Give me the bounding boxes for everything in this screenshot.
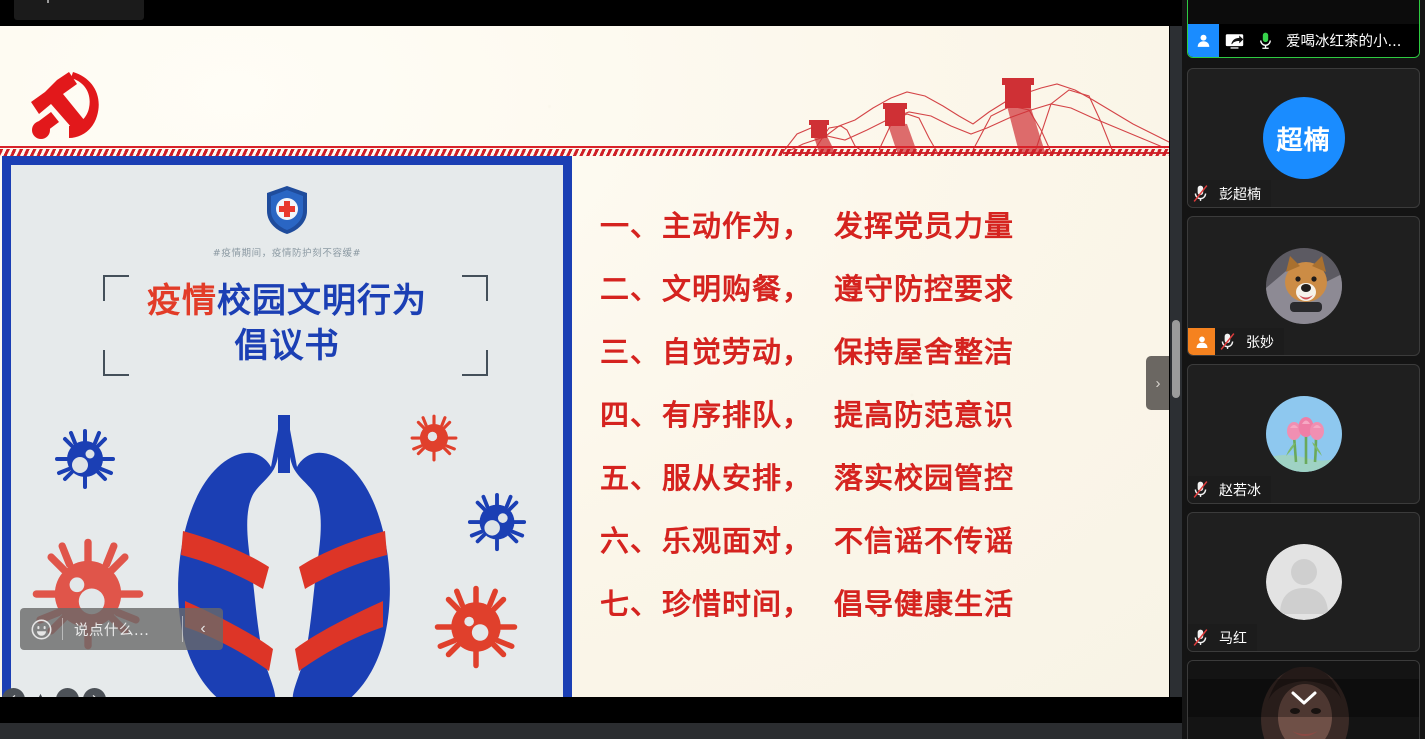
more-options-button[interactable] bbox=[56, 688, 79, 697]
participant-name-row: 马红 bbox=[1188, 624, 1257, 651]
host-badge-icon bbox=[1188, 328, 1215, 355]
ellipsis-icon bbox=[61, 693, 75, 698]
expand-panel-handle[interactable]: › bbox=[1146, 356, 1169, 410]
pledge-item-4-tail: 提高防范意识 bbox=[834, 398, 1014, 432]
pledge-item-1-num: 一、 bbox=[600, 209, 660, 243]
mic-muted-icon bbox=[1188, 628, 1212, 647]
chat-input-bar[interactable]: 说点什么... ‹ bbox=[20, 608, 223, 650]
pen-tool-icon bbox=[33, 692, 48, 697]
participant-name-row: 赵若冰 bbox=[1188, 476, 1271, 503]
pledge-item-3-head: 自觉劳动， bbox=[662, 335, 812, 369]
pledge-item-1: 一、主动作为，发挥党员力量 bbox=[600, 212, 1160, 241]
header-red-rule bbox=[0, 146, 1169, 148]
pledge-item-2-num: 二、 bbox=[600, 272, 660, 306]
participant-tile-3[interactable]: 赵若冰 bbox=[1187, 364, 1420, 504]
pledge-item-4-num: 四、 bbox=[600, 398, 660, 432]
participant-tile-4[interactable]: 马红 bbox=[1187, 512, 1420, 652]
avatar-photo bbox=[1266, 396, 1342, 472]
arrow-left-icon bbox=[7, 693, 20, 697]
pledge-item-6-num: 六、 bbox=[600, 524, 660, 558]
window-titlebar-stub bbox=[14, 0, 144, 20]
shared-screen-stage[interactable]: #疫情期间，疫情防护刻不容缓# 疫情校园文明行为 倡议书 bbox=[0, 26, 1169, 697]
participant-tile-5[interactable] bbox=[1187, 660, 1420, 739]
participant-name-row: 彭超楠 bbox=[1188, 180, 1271, 207]
pledge-item-3: 三、自觉劳动，保持屋舍整洁 bbox=[600, 338, 1160, 367]
pledge-item-6: 六、乐观面对，不信谣不传谣 bbox=[600, 527, 1160, 556]
participant-name-row: 张妙 bbox=[1188, 328, 1284, 355]
participant-name: 爱喝冰红茶的小... bbox=[1281, 30, 1401, 51]
pledge-item-6-head: 乐观面对， bbox=[662, 524, 812, 558]
slide-controls bbox=[2, 688, 106, 697]
avatar-default-silhouette bbox=[1266, 544, 1342, 620]
slide-title-rest: 校园文明行为 bbox=[217, 281, 427, 321]
screen-share-icon bbox=[1219, 24, 1250, 57]
pledge-item-7-num: 七、 bbox=[600, 587, 660, 621]
participant-sidebar[interactable]: 西安加油 bbox=[1182, 0, 1425, 739]
participant-name: 张妙 bbox=[1239, 332, 1274, 352]
header-hatched-rule bbox=[0, 149, 1169, 156]
participant-tile-2[interactable]: 张妙 bbox=[1187, 216, 1420, 356]
pledge-item-2: 二、文明购餐，遵守防控要求 bbox=[600, 275, 1160, 304]
pledge-item-1-head: 主动作为， bbox=[662, 209, 812, 243]
pledge-item-7-tail: 倡导健康生活 bbox=[834, 587, 1014, 621]
participant-name: 马红 bbox=[1212, 628, 1247, 648]
virus-icon-red-1 bbox=[409, 413, 459, 463]
pledge-item-4-head: 有序排队， bbox=[662, 398, 812, 432]
lungs-illustration bbox=[159, 415, 409, 697]
avatar-photo bbox=[1266, 248, 1342, 324]
chat-collapse-chevron-icon[interactable]: ‹ bbox=[183, 620, 223, 638]
virus-icon-red-3 bbox=[432, 583, 520, 671]
participant-tile-active[interactable]: 西安加油 bbox=[1187, 0, 1420, 58]
pledge-item-3-num: 三、 bbox=[600, 335, 660, 369]
slide-hashtag-line: #疫情期间，疫情防护刻不容缓# bbox=[11, 245, 563, 259]
mic-muted-icon bbox=[1215, 332, 1239, 351]
slide-title-highlight: 疫情 bbox=[147, 281, 217, 321]
pledge-item-1-tail: 发挥党员力量 bbox=[834, 209, 1014, 243]
slide-title-line2: 倡议书 bbox=[235, 326, 340, 366]
mic-unmuted-icon bbox=[1250, 24, 1281, 57]
slide-title: 疫情校园文明行为 倡议书 bbox=[11, 279, 563, 369]
virus-icon-blue-1 bbox=[53, 427, 117, 491]
stage-scrollbar-thumb[interactable] bbox=[1172, 320, 1180, 398]
pledge-item-6-tail: 不信谣不传谣 bbox=[834, 524, 1014, 558]
participant-name: 彭超楠 bbox=[1212, 184, 1261, 204]
titlebar-caret bbox=[47, 0, 49, 3]
pledge-list: 一、主动作为，发挥党员力量 二、文明购餐，遵守防控要求 三、自觉劳动，保持屋舍整… bbox=[600, 212, 1160, 653]
prev-slide-button[interactable] bbox=[2, 688, 25, 697]
chevron-down-icon bbox=[1287, 688, 1321, 708]
chat-input-placeholder[interactable]: 说点什么... bbox=[63, 619, 182, 640]
smiley-icon[interactable] bbox=[20, 619, 62, 640]
arrow-right-icon bbox=[88, 693, 101, 697]
scroll-down-indicator[interactable] bbox=[1188, 679, 1419, 717]
mic-muted-icon bbox=[1188, 480, 1212, 499]
great-wall-line-art bbox=[783, 68, 1169, 156]
cpc-hammer-sickle-emblem bbox=[27, 68, 107, 152]
participant-name-row: 爱喝冰红茶的小... bbox=[1188, 24, 1419, 57]
annotate-button[interactable] bbox=[29, 688, 52, 697]
chevron-right-icon: › bbox=[1156, 375, 1161, 392]
pledge-item-2-tail: 遵守防控要求 bbox=[834, 272, 1014, 306]
pledge-item-5-head: 服从安排， bbox=[662, 461, 812, 495]
pledge-item-5-tail: 落实校园管控 bbox=[834, 461, 1014, 495]
mic-muted-icon bbox=[1188, 184, 1212, 203]
virus-icon-blue-2 bbox=[466, 491, 528, 553]
pledge-item-3-tail: 保持屋舍整洁 bbox=[834, 335, 1014, 369]
pledge-item-7-head: 珍惜时间， bbox=[662, 587, 812, 621]
avatar-initials: 超楠 bbox=[1263, 97, 1345, 179]
person-badge-icon bbox=[1188, 24, 1219, 57]
pledge-item-5: 五、服从安排，落实校园管控 bbox=[600, 464, 1160, 493]
next-slide-button[interactable] bbox=[83, 688, 106, 697]
participant-tile-1[interactable]: 超楠 彭超楠 bbox=[1187, 68, 1420, 208]
stage-bottom-band bbox=[0, 697, 1170, 723]
participant-name: 赵若冰 bbox=[1212, 480, 1261, 500]
medical-shield-icon bbox=[265, 185, 309, 235]
pledge-item-2-head: 文明购餐， bbox=[662, 272, 812, 306]
pledge-item-5-num: 五、 bbox=[600, 461, 660, 495]
pledge-item-4: 四、有序排队，提高防范意识 bbox=[600, 401, 1160, 430]
pledge-item-7: 七、珍惜时间，倡导健康生活 bbox=[600, 590, 1160, 619]
screen-root: #疫情期间，疫情防护刻不容缓# 疫情校园文明行为 倡议书 bbox=[0, 0, 1425, 739]
